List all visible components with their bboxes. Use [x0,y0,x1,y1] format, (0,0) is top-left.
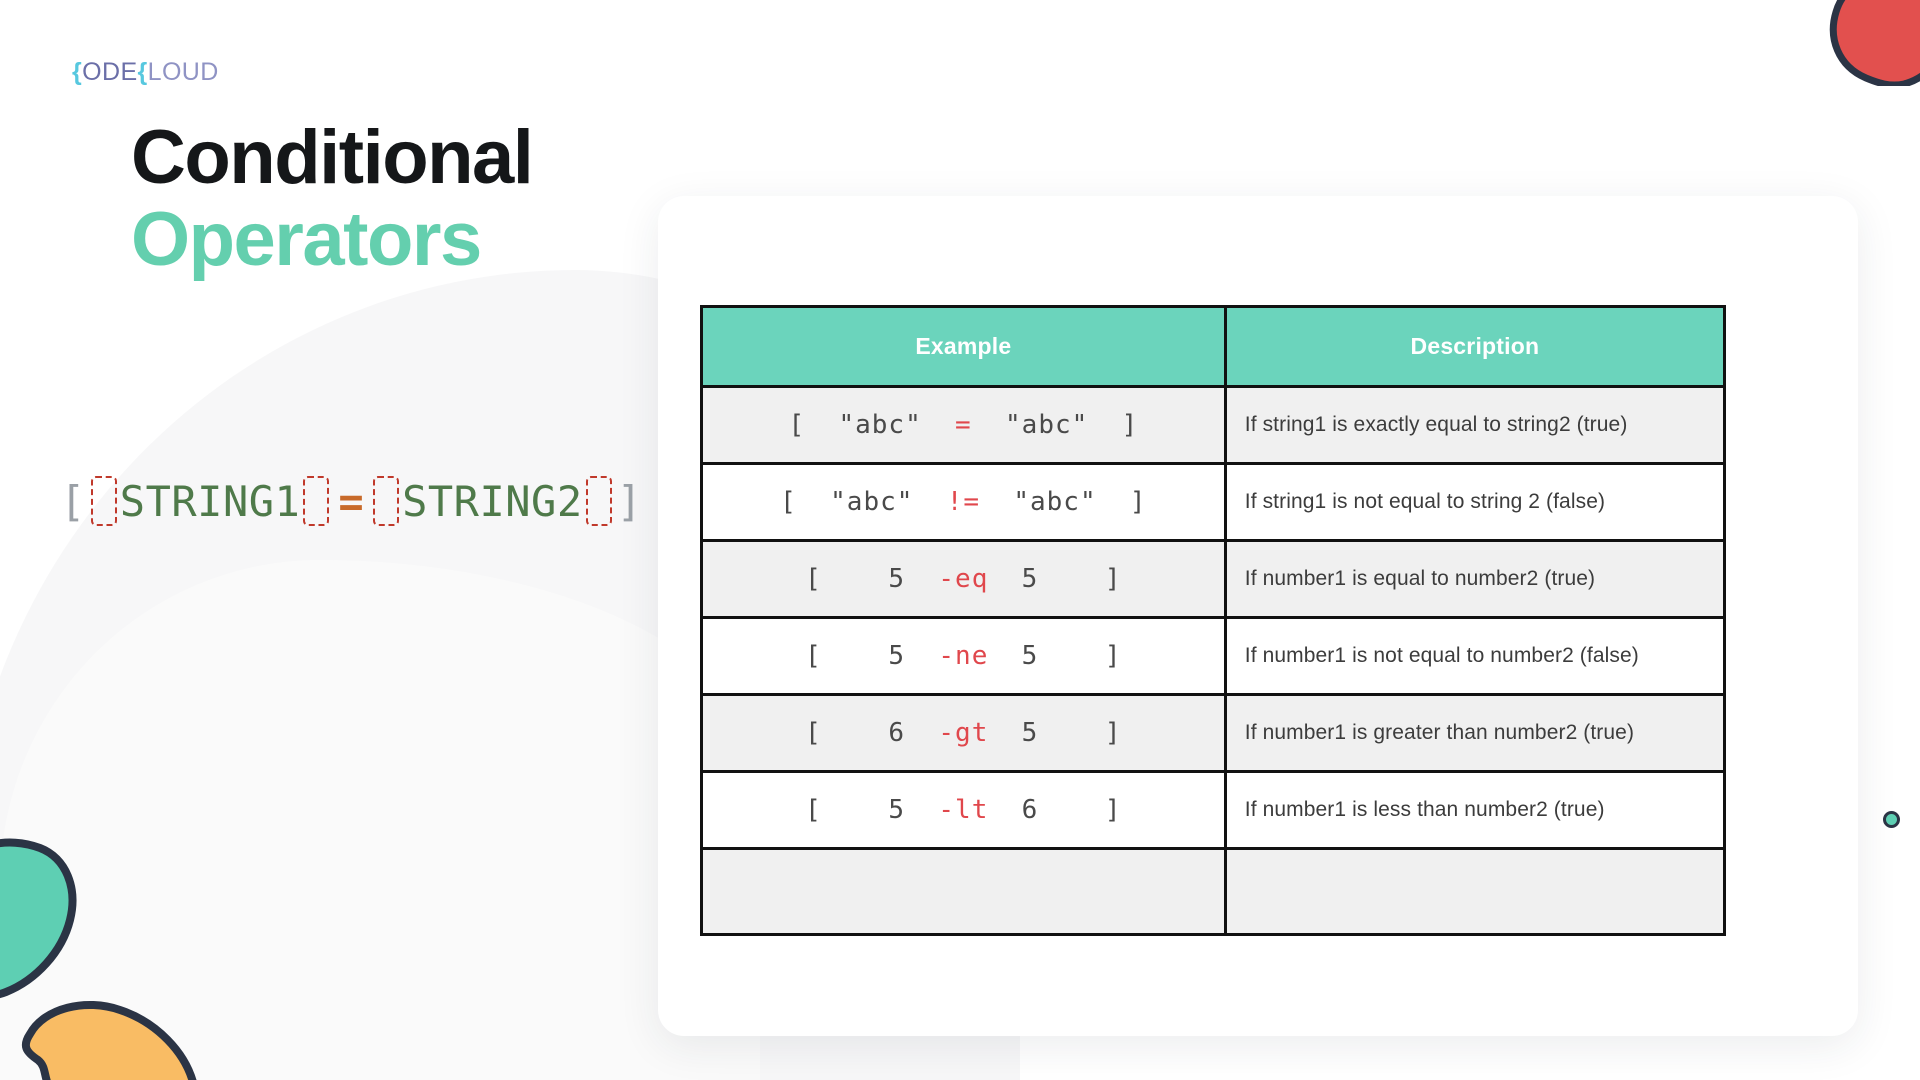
example-operator: = [955,410,972,440]
example-suffix: 5 ] [988,718,1121,748]
cell-example: [ 6 -gt 5 ] [702,695,1226,772]
cell-description: If string1 is not equal to string 2 (fal… [1225,464,1724,541]
cell-example: [ "abc" != "abc" ] [702,464,1226,541]
space-marker-box [91,476,117,526]
example-operator: -ne [938,641,988,671]
orange-blob-decoration [8,994,204,1080]
operators-table-container: Example Description [ "abc" = "abc" ]If … [700,305,1726,936]
cell-description: If number1 is not equal to number2 (fals… [1225,618,1724,695]
string-comparison-snippet: [ STRING1 = STRING2 ] [58,476,644,526]
cell-description: If number1 is less than number2 (true) [1225,772,1724,849]
snippet-operator: = [332,477,370,526]
cell-description: If number1 is equal to number2 (true) [1225,541,1724,618]
cell-example [702,849,1226,935]
snippet-right-operand: STRING2 [402,477,583,526]
cell-description: If string1 is exactly equal to string2 (… [1225,387,1724,464]
logo-text-kloud: LOUD [148,58,219,87]
teal-dot-decoration [1883,811,1900,828]
cell-example: [ 5 -eq 5 ] [702,541,1226,618]
example-prefix: [ 6 [805,718,938,748]
red-blob-decoration [1822,0,1920,86]
example-prefix: [ 5 [805,641,938,671]
table-row: [ "abc" != "abc" ]If string1 is not equa… [702,464,1725,541]
title-line-conditional: Conditional [131,118,532,197]
column-header-description: Description [1225,307,1724,387]
example-prefix: [ 5 [805,564,938,594]
space-marker-box [303,476,329,526]
cell-description [1225,849,1724,935]
example-suffix: "abc" ] [980,487,1147,517]
cell-description: If number1 is greater than number2 (true… [1225,695,1724,772]
table-row: [ "abc" = "abc" ]If string1 is exactly e… [702,387,1725,464]
example-prefix: [ 5 [805,795,938,825]
snippet-close-bracket: ] [615,477,645,526]
example-suffix: 5 ] [988,641,1121,671]
operators-table: Example Description [ "abc" = "abc" ]If … [700,305,1726,936]
space-marker-box [373,476,399,526]
table-row [702,849,1725,935]
example-operator: != [947,487,980,517]
kodekloud-logo[interactable]: {ODE{LOUD [72,58,219,87]
cell-example: [ 5 -ne 5 ] [702,618,1226,695]
example-suffix: 5 ] [988,564,1121,594]
example-suffix: "abc" ] [972,410,1139,440]
table-row: [ 5 -ne 5 ]If number1 is not equal to nu… [702,618,1725,695]
example-operator: -gt [938,718,988,748]
table-row: [ 5 -eq 5 ]If number1 is equal to number… [702,541,1725,618]
example-operator: -lt [938,795,988,825]
logo-brace-left-icon: { [72,58,82,87]
example-prefix: [ "abc" [789,410,956,440]
page-title: Conditional Operators [131,118,532,282]
teal-blob-decoration [0,834,98,1002]
example-suffix: 6 ] [988,795,1121,825]
example-prefix: [ "abc" [780,487,947,517]
cell-example: [ "abc" = "abc" ] [702,387,1226,464]
column-header-example: Example [702,307,1226,387]
logo-text-kode: ODE [82,58,137,87]
example-operator: -eq [938,564,988,594]
title-line-operators: Operators [131,197,532,282]
table-row: [ 5 -lt 6 ]If number1 is less than numbe… [702,772,1725,849]
table-row: [ 6 -gt 5 ]If number1 is greater than nu… [702,695,1725,772]
snippet-left-operand: STRING1 [120,477,301,526]
slide-root: {ODE{LOUD Conditional Operators [ STRING… [0,0,1920,1080]
space-marker-box [586,476,612,526]
table-body: [ "abc" = "abc" ]If string1 is exactly e… [702,387,1725,935]
cell-example: [ 5 -lt 6 ] [702,772,1226,849]
table-header-row: Example Description [702,307,1725,387]
snippet-open-bracket: [ [58,477,88,526]
logo-brace-right-icon: { [138,58,148,87]
